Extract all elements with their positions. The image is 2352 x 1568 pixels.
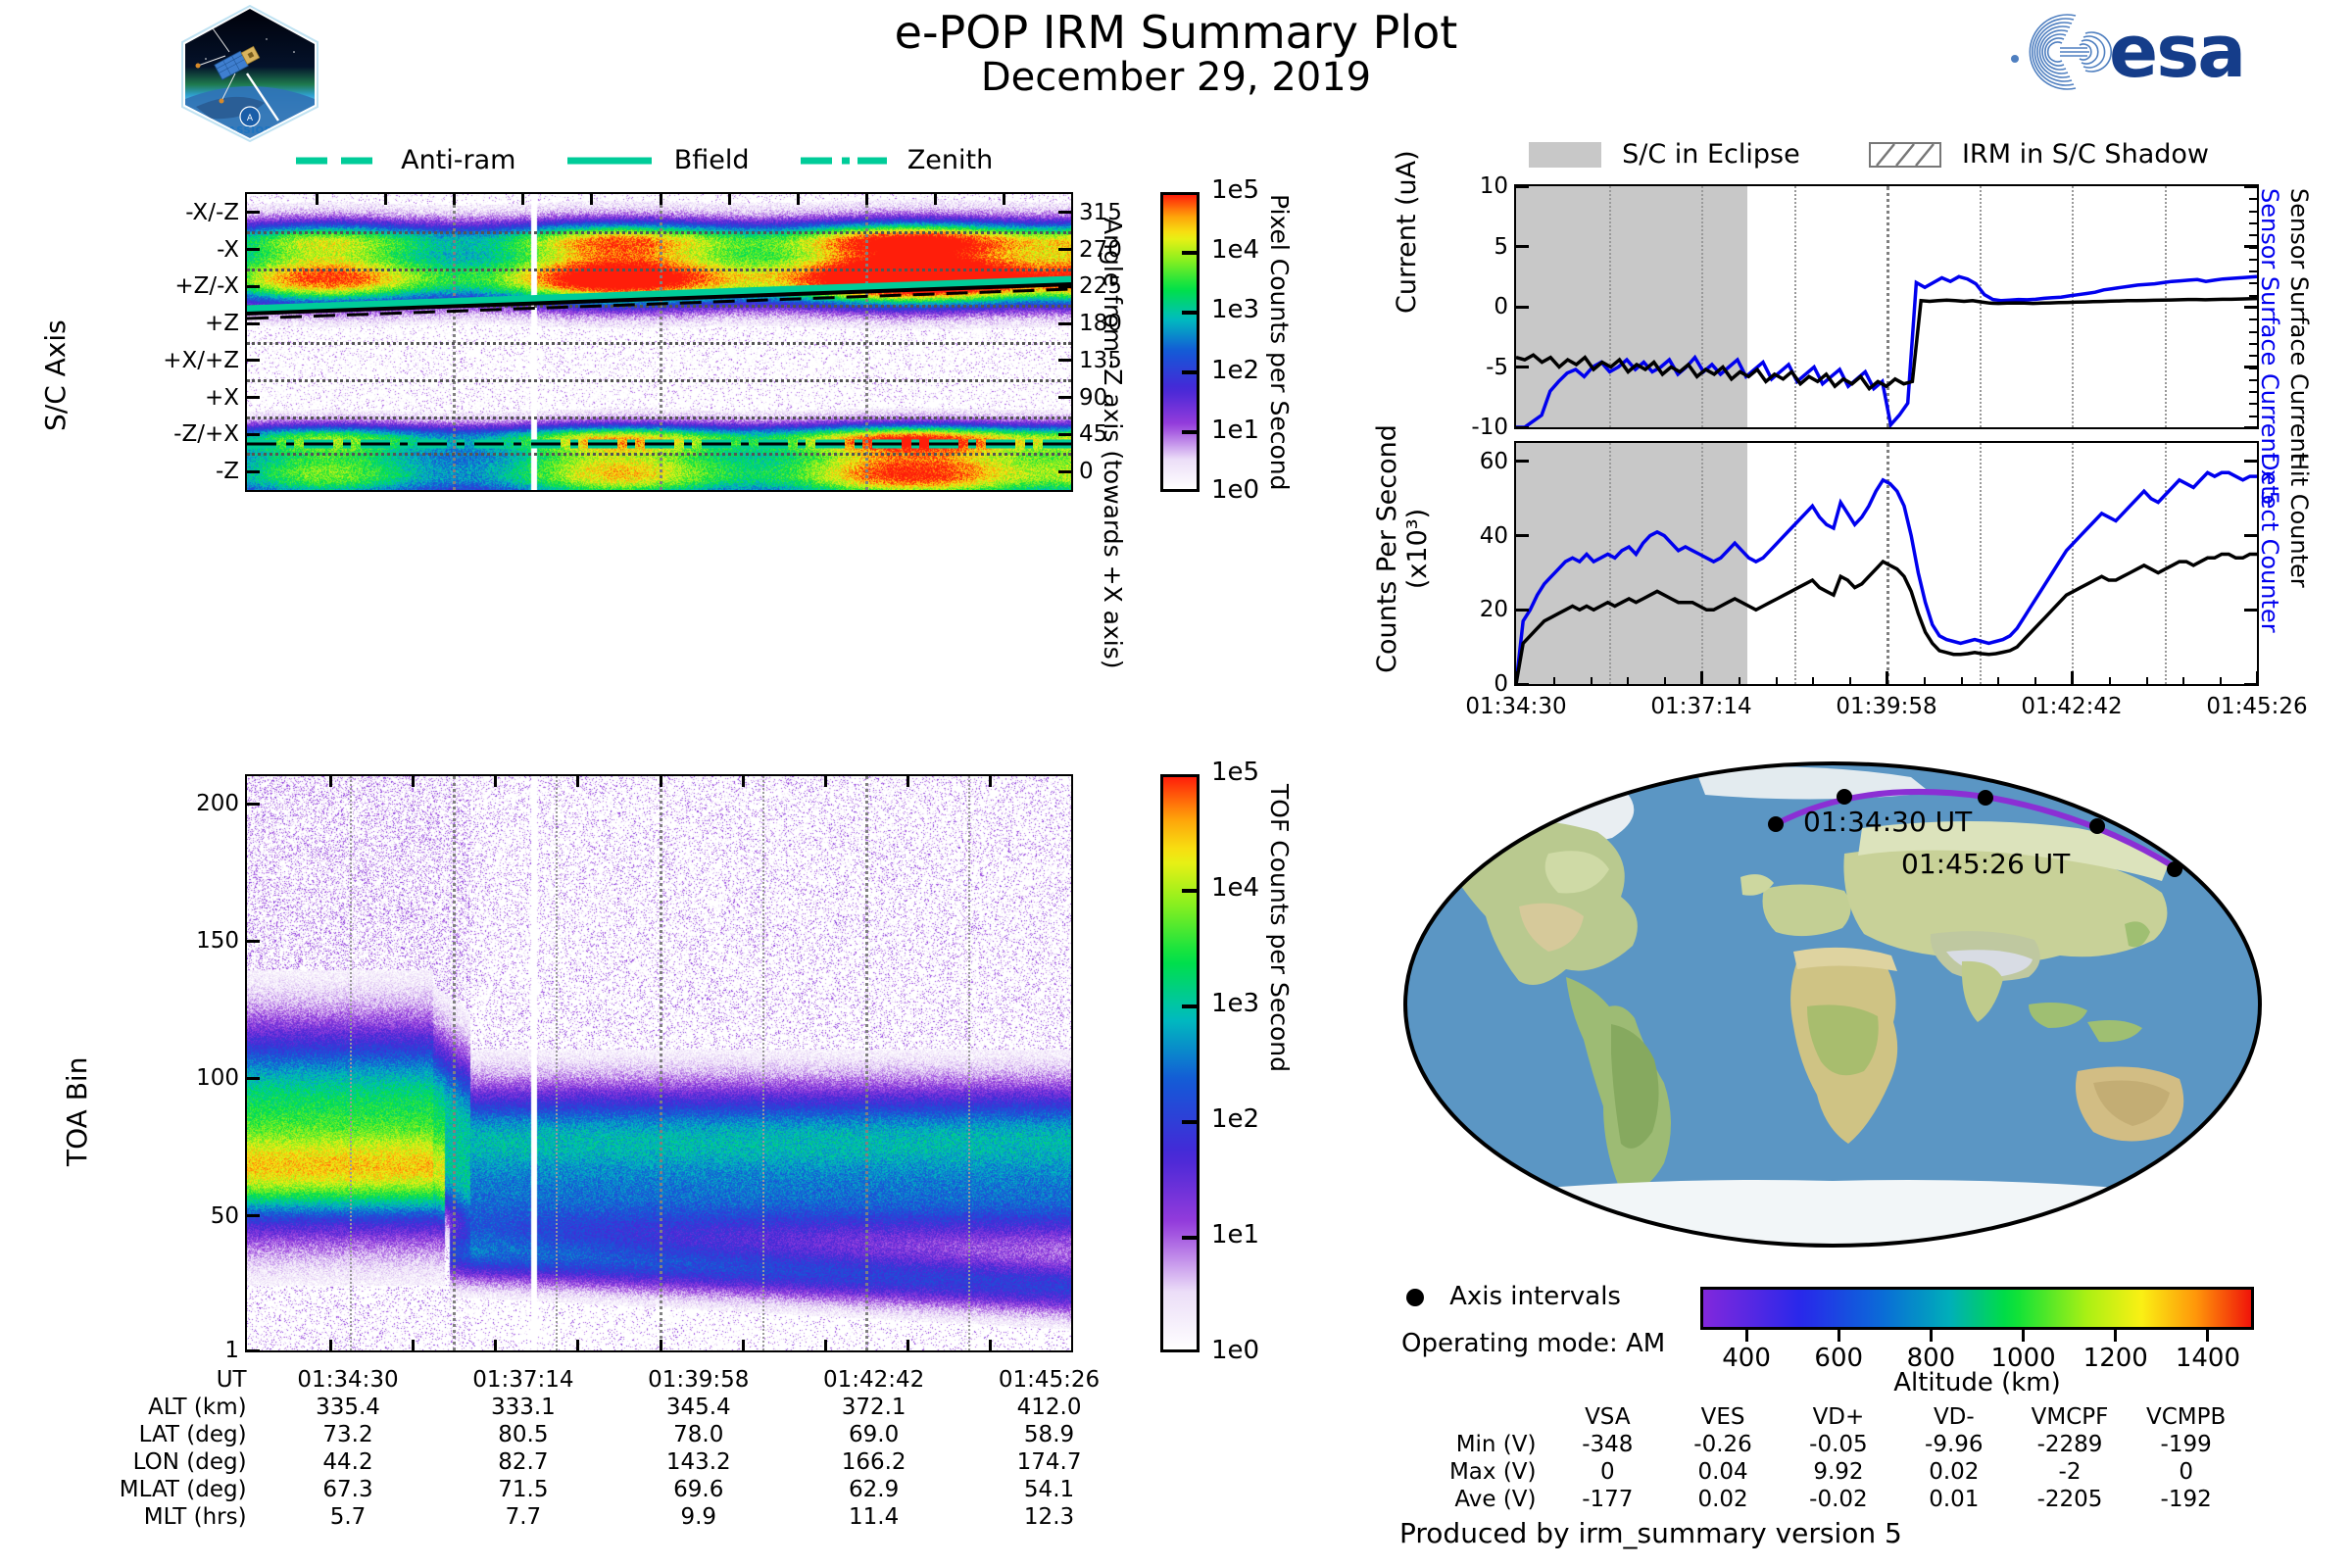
voltage-corner — [1382, 1403, 1550, 1431]
legend-item-bfield: Bfield — [565, 150, 755, 169]
voltage-cell: 0 — [1550, 1458, 1666, 1486]
ephemeris-row: MLT (hrs)5.77.79.911.412.3 — [0, 1503, 1137, 1531]
minor-tickmark — [1961, 677, 1963, 685]
xtickmark — [824, 1340, 827, 1351]
ephemeris-cell: 9.9 — [611, 1503, 786, 1531]
colorbar-tick: 1e5 — [1211, 758, 1259, 787]
tof-counts-colorbar — [1160, 774, 1200, 1352]
xtickmark — [742, 1340, 745, 1351]
voltage-cell: -199 — [2128, 1431, 2244, 1458]
pixel-counts-colorbar — [1160, 192, 1200, 492]
ytickmark — [246, 1349, 260, 1352]
ephemeris-cell: 69.0 — [786, 1421, 961, 1448]
xtickmark — [989, 775, 992, 787]
ephemeris-cell: 01:42:42 — [786, 1366, 961, 1394]
ytickmark — [246, 803, 260, 806]
esa-logo: esa — [1980, 8, 2342, 96]
voltage-row-label: Ave (V) — [1382, 1486, 1550, 1513]
counts-ylabel: Counts Per Second (x10³) — [1372, 421, 1433, 676]
toa-ytick: 100 — [196, 1065, 239, 1091]
minor-tickmark — [1812, 677, 1814, 685]
voltage-row: Max (V)00.049.920.02-20 — [1382, 1458, 2244, 1486]
ephemeris-cell: 7.7 — [435, 1503, 611, 1531]
voltage-cell: -0.05 — [1781, 1431, 1896, 1458]
ephemeris-row: LON (deg)44.282.7143.2166.2174.7 — [0, 1448, 1137, 1476]
xtickmark — [494, 1340, 497, 1351]
xtickmark — [576, 1340, 579, 1351]
colorbar-tickmark — [1182, 1120, 1200, 1124]
voltage-cell: -2289 — [2012, 1431, 2129, 1458]
ephemeris-cell: 335.4 — [261, 1394, 436, 1421]
sc-axis-ytick: +X/+Z — [163, 348, 239, 373]
sc-axis-overlay-lines — [247, 194, 1071, 490]
voltage-cell: -0.26 — [1665, 1431, 1781, 1458]
colorbar-tick: 1e0 — [1211, 1336, 1259, 1365]
ytickmark — [1515, 460, 1529, 463]
ephemeris-row-label: MLT (hrs) — [0, 1503, 261, 1531]
ephemeris-cell: 73.2 — [261, 1421, 436, 1448]
ephemeris-cell: 67.3 — [261, 1476, 436, 1503]
current-ytick: 0 — [1494, 294, 1508, 319]
colorbar-tick: 1e0 — [1211, 475, 1259, 505]
svg-text:esa: esa — [2109, 10, 2244, 94]
colorbar-tickmark — [1745, 1330, 1748, 1342]
colorbar-tick: 1e1 — [1211, 1220, 1259, 1249]
ephemeris-row-label: MLAT (deg) — [0, 1476, 261, 1503]
altitude-colorbar — [1700, 1287, 2254, 1330]
ephemeris-cell: 62.9 — [786, 1476, 961, 1503]
current-series — [1516, 186, 2257, 427]
ephemeris-cell: 82.7 — [435, 1448, 611, 1476]
minor-tickmark — [1739, 677, 1740, 685]
legend-label-anti-ram: Anti-ram — [401, 145, 515, 175]
minor-tickmark — [1664, 677, 1666, 685]
voltage-cell: -2205 — [2012, 1486, 2129, 1513]
sc-axis-spectrogram[interactable]: -X/-Z-X+Z/-X+Z+X/+Z+X-Z/+X-Z 31527022518… — [245, 192, 1073, 492]
sc-axis-ytick: +Z/-X — [174, 273, 239, 299]
current-ytick: 5 — [1494, 234, 1508, 260]
minor-tickmark — [2109, 677, 2111, 685]
toa-ylabel: TOA Bin — [61, 1057, 93, 1166]
colorbar-tickmark — [2114, 1330, 2117, 1342]
ephemeris-cell: 12.3 — [961, 1503, 1137, 1531]
sc-axis-ytick: -X — [217, 237, 239, 263]
ephemeris-row: MLAT (deg)67.371.569.662.954.1 — [0, 1476, 1137, 1503]
voltage-column-header: VD+ — [1781, 1403, 1896, 1431]
angle-axis-label: Angle from -Z axis (towards +X axis) — [1099, 218, 1127, 669]
voltage-cell: 9.92 — [1781, 1458, 1896, 1486]
counts-xtick: 01:34:30 — [1465, 694, 1566, 719]
xtickmark — [412, 775, 415, 787]
voltage-cell: -177 — [1550, 1486, 1666, 1513]
voltage-row-label: Max (V) — [1382, 1458, 1550, 1486]
counts-ytick: 20 — [1480, 597, 1508, 622]
current-plot[interactable]: 1050-5-10 — [1514, 184, 2259, 429]
legend-item-shadow: IRM in S/C Shadow — [1869, 144, 2209, 163]
legend-item-eclipse: S/C in Eclipse — [1529, 144, 1805, 163]
minor-tickmark — [2034, 677, 2036, 685]
ephemeris-row: UT01:34:3001:37:1401:39:5801:42:4201:45:… — [0, 1366, 1137, 1394]
ephemeris-cell: 01:39:58 — [611, 1366, 786, 1394]
counts-xtick: 01:37:14 — [1650, 694, 1751, 719]
legend-label-eclipse: S/C in Eclipse — [1622, 139, 1800, 170]
colorbar-tick: 1e5 — [1211, 175, 1259, 205]
counts-right-label-black: Hit Counter — [2285, 453, 2313, 588]
minor-tickmark — [2220, 677, 2222, 685]
track-point — [2167, 861, 2182, 877]
voltage-cell: 0.04 — [1665, 1458, 1781, 1486]
minor-tickmark — [1591, 677, 1592, 685]
ytickmark — [1515, 366, 1529, 368]
map-legend: Axis intervals — [1401, 1282, 1621, 1311]
ephemeris-row-label: UT — [0, 1366, 261, 1394]
operating-mode-label: Operating mode: AM — [1401, 1329, 1665, 1358]
track-point — [1768, 816, 1784, 832]
legend-label-bfield: Bfield — [674, 145, 750, 175]
voltage-cell: -192 — [2128, 1486, 2244, 1513]
counts-plot[interactable]: 6040200 01:34:3001:37:1401:39:5801:42:42… — [1514, 441, 2259, 686]
series-blue — [1516, 472, 2257, 684]
voltage-row: Min (V)-348-0.26-0.05-9.96-2289-199 — [1382, 1431, 2244, 1458]
ytickmark — [1515, 306, 1529, 309]
xtickmark — [329, 775, 332, 787]
voltage-column-header: VES — [1665, 1403, 1781, 1431]
shadow-hatch-icon — [1869, 142, 1941, 168]
ephemeris-cell: 5.7 — [261, 1503, 436, 1531]
track-start-label: 01:34:30 UT — [1803, 806, 1972, 838]
voltage-column-header: VSA — [1550, 1403, 1666, 1431]
ephemeris-row-label: LON (deg) — [0, 1448, 261, 1476]
xtickmark — [906, 775, 909, 787]
counts-right-label-blue: Detect Counter — [2256, 453, 2283, 633]
colorbar-tickmark — [1182, 1236, 1200, 1240]
ephemeris-cell: 44.2 — [261, 1448, 436, 1476]
counts-ytick: 60 — [1480, 449, 1508, 474]
track-point — [1978, 790, 1993, 806]
xtickmark — [1515, 671, 1518, 685]
axis-intervals-label: Axis intervals — [1449, 1282, 1621, 1311]
colorbar-tickmark — [1182, 311, 1200, 315]
series-black — [1516, 299, 2257, 389]
xtickmark — [742, 775, 745, 787]
angle-ytick: 0 — [1079, 459, 1094, 484]
minor-tickmark — [2146, 677, 2148, 685]
xtickmark — [412, 1340, 415, 1351]
axis-interval-dot-icon — [1401, 1284, 1429, 1309]
ephemeris-cell: 01:45:26 — [961, 1366, 1137, 1394]
track-end-label: 01:45:26 UT — [1901, 848, 2070, 880]
colorbar-tickmark — [1182, 889, 1200, 893]
sc-axis-ytick: -X/-Z — [185, 200, 239, 225]
colorbar-tick: 1e2 — [1211, 356, 1259, 385]
pixel-counts-colorbar-label: Pixel Counts per Second — [1265, 194, 1294, 490]
ephemeris-cell: 58.9 — [961, 1421, 1137, 1448]
ephemeris-row: LAT (deg)73.280.578.069.058.9 — [0, 1421, 1137, 1448]
ephemeris-cell: 78.0 — [611, 1421, 786, 1448]
ephemeris-cell: 412.0 — [961, 1394, 1137, 1421]
colorbar-tickmark — [1930, 1330, 1933, 1342]
voltage-cell: -0.02 — [1781, 1486, 1896, 1513]
ytickmark — [1515, 426, 1529, 429]
voltage-row: Ave (V)-1770.02-0.020.01-2205-192 — [1382, 1486, 2244, 1513]
toa-ytick: 50 — [211, 1203, 239, 1229]
voltage-cell: 0.02 — [1665, 1486, 1781, 1513]
sc-axis-ytick: +X — [205, 385, 239, 411]
voltage-table: VSAVESVD+VD-VMCPFVCMPBMin (V)-348-0.26-0… — [1382, 1403, 2244, 1513]
ephemeris-row-label: ALT (km) — [0, 1394, 261, 1421]
toa-heatmap-canvas — [247, 776, 1071, 1350]
counts-xtick: 01:45:26 — [2206, 694, 2307, 719]
colorbar-tickmark — [2022, 1330, 2025, 1342]
ephemeris-row: ALT (km)335.4333.1345.4372.1412.0 — [0, 1394, 1137, 1421]
xtickmark — [576, 775, 579, 787]
ytickmark — [246, 1077, 260, 1080]
voltage-cell: 0 — [2128, 1458, 2244, 1486]
ytickmark — [246, 1214, 260, 1217]
track-point — [2089, 818, 2105, 834]
counts-ylabel-text: Counts Per Second (x10³) — [1372, 424, 1433, 673]
colorbar-tick: 1e2 — [1211, 1104, 1259, 1134]
ephemeris-cell: 11.4 — [786, 1503, 961, 1531]
sc-axis-ytick: +Z — [205, 311, 239, 336]
ephemeris-cell: 54.1 — [961, 1476, 1137, 1503]
ephemeris-cell: 174.7 — [961, 1448, 1137, 1476]
current-right-label-black: Sensor Surface Current — [2285, 188, 2313, 462]
minor-tickmark — [1776, 677, 1778, 685]
xtickmark — [2256, 671, 2259, 685]
colorbar-tick: 1e4 — [1211, 873, 1259, 903]
ground-track-map[interactable]: 01:34:30 UT 01:45:26 UT — [1401, 759, 2264, 1249]
ephemeris-cell: 333.1 — [435, 1394, 611, 1421]
voltage-header-row: VSAVESVD+VD-VMCPFVCMPB — [1382, 1403, 2244, 1431]
toa-ytick: 150 — [196, 928, 239, 954]
colorbar-tick: 1e3 — [1211, 295, 1259, 324]
colorbar-tickmark — [2206, 1330, 2209, 1342]
minor-tickmark — [1849, 677, 1851, 685]
legend-label-shadow: IRM in S/C Shadow — [1962, 139, 2209, 170]
ephemeris-cell: 71.5 — [435, 1476, 611, 1503]
svg-text:A: A — [247, 114, 254, 123]
voltage-column-header: VMCPF — [2012, 1403, 2129, 1431]
voltage-cell: -2 — [2012, 1458, 2129, 1486]
voltage-cell: 0.02 — [1896, 1458, 2012, 1486]
right-legend: S/C in Eclipse IRM in S/C Shadow — [1529, 139, 2209, 170]
minor-tickmark — [1553, 677, 1555, 685]
toa-ytick: 200 — [196, 791, 239, 816]
xtickmark — [329, 1340, 332, 1351]
ytickmark — [1515, 534, 1529, 537]
zenith-line-icon — [799, 154, 889, 168]
footer-credit: Produced by irm_summary version 5 — [1399, 1517, 1902, 1549]
xtickmark — [660, 775, 662, 787]
current-ylabel: Current (uA) — [1392, 150, 1422, 314]
ephemeris-row-label: LAT (deg) — [0, 1421, 261, 1448]
toa-ytick: 1 — [224, 1338, 239, 1363]
anti-ram-line-icon — [294, 154, 382, 168]
ytickmark — [1515, 245, 1529, 248]
current-ytick: 10 — [1480, 173, 1508, 199]
bfield-line-icon — [565, 154, 656, 168]
xtickmark — [660, 1340, 662, 1351]
sc-axis-ylabel: S/C Axis — [39, 319, 72, 431]
ephemeris-cell: 01:37:14 — [435, 1366, 611, 1394]
voltage-row-label: Min (V) — [1382, 1431, 1550, 1458]
minor-tickmark — [1997, 677, 1999, 685]
legend-label-zenith: Zenith — [907, 145, 993, 175]
colorbar-tick: 1e1 — [1211, 416, 1259, 445]
minor-tickmark — [2072, 677, 2074, 685]
colorbar-tickmark — [1182, 1004, 1200, 1008]
voltage-cell: -9.96 — [1896, 1431, 2012, 1458]
ephemeris-cell: 166.2 — [786, 1448, 961, 1476]
voltage-cell: 0.01 — [1896, 1486, 2012, 1513]
minor-tickmark — [1886, 677, 1888, 685]
minor-tickmark — [1924, 677, 1926, 685]
colorbar-tickmark — [1182, 251, 1200, 255]
xtickmark — [824, 775, 827, 787]
ytickmark — [1515, 185, 1529, 188]
altitude-colorbar-label: Altitude (km) — [1700, 1368, 2254, 1397]
current-ytick: -5 — [1486, 355, 1508, 380]
sc-axis-ytick: -Z/+X — [173, 421, 239, 447]
colorbar-tickmark — [1837, 1330, 1840, 1342]
xtickmark — [494, 775, 497, 787]
toa-spectrogram[interactable]: 200150100501 — [245, 774, 1073, 1352]
minor-tickmark — [1701, 677, 1703, 685]
minor-tickmark — [2182, 677, 2184, 685]
minor-tickmark — [1627, 677, 1629, 685]
colorbar-tick: 1e4 — [1211, 235, 1259, 265]
ephemeris-cell: 372.1 — [786, 1394, 961, 1421]
ytickmark — [246, 940, 260, 943]
voltage-column-header: VD- — [1896, 1403, 2012, 1431]
counts-series — [1516, 443, 2257, 684]
colorbar-tickmark — [1182, 370, 1200, 374]
ephemeris-table: UT01:34:3001:37:1401:39:5801:42:4201:45:… — [0, 1366, 1137, 1531]
ephemeris-cell: 01:34:30 — [261, 1366, 436, 1394]
voltage-column-header: VCMPB — [2128, 1403, 2244, 1431]
counts-ytick: 40 — [1480, 523, 1508, 549]
counts-xtick: 01:39:58 — [1836, 694, 1936, 719]
xtickmark — [906, 1340, 909, 1351]
legend-item-anti-ram: Anti-ram — [294, 150, 521, 169]
current-ytick: -10 — [1471, 415, 1508, 440]
colorbar-tickmark — [1182, 430, 1200, 434]
ephemeris-cell: 80.5 — [435, 1421, 611, 1448]
voltage-cell: -348 — [1550, 1431, 1666, 1458]
ephemeris-cell: 345.4 — [611, 1394, 786, 1421]
tof-counts-colorbar-label: TOF Counts per Second — [1265, 784, 1294, 1072]
ephemeris-cell: 69.6 — [611, 1476, 786, 1503]
sc-axis-ytick: -Z — [216, 459, 239, 484]
ephemeris-cell: 143.2 — [611, 1448, 786, 1476]
track-point — [1837, 789, 1852, 805]
legend-item-zenith: Zenith — [799, 150, 994, 169]
counts-xtick: 01:42:42 — [2021, 694, 2122, 719]
colorbar-tick: 1e3 — [1211, 989, 1259, 1018]
eclipse-swatch-icon — [1529, 142, 1601, 168]
ytickmark — [1515, 609, 1529, 612]
xtickmark — [989, 1340, 992, 1351]
left-legend: Anti-ram Bfield Zenith — [294, 145, 993, 175]
series-black — [1516, 555, 2257, 685]
